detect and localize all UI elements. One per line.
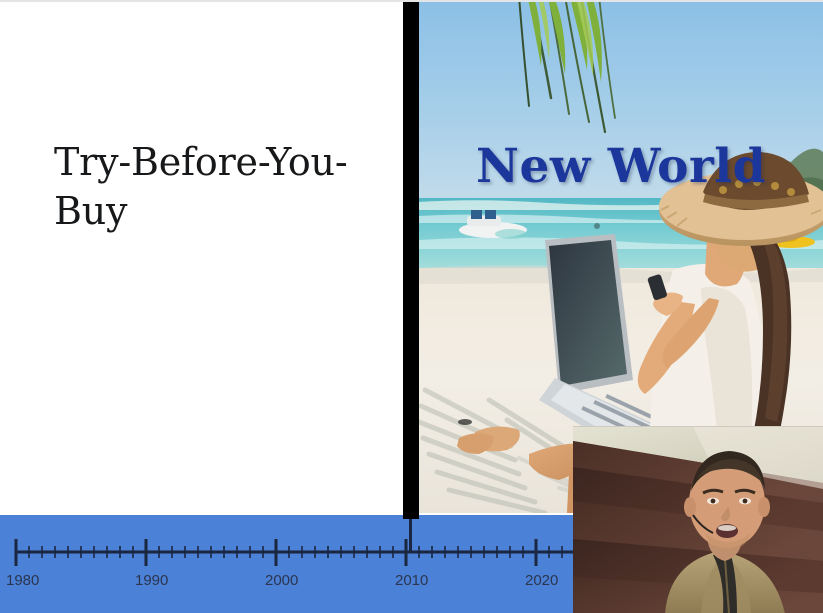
presentation-screen: Try-Before-You-Buy <box>0 0 823 613</box>
presenter-video-frame <box>573 427 823 613</box>
timeline-label-2000: 2000 <box>265 572 298 589</box>
timeline-playhead-bar[interactable] <box>403 0 419 519</box>
timeline-label-2020: 2020 <box>525 572 558 589</box>
slide-left-panel: Try-Before-You-Buy <box>0 2 403 515</box>
timeline-playhead-needle <box>409 519 412 551</box>
presenter-video[interactable] <box>573 426 823 613</box>
page-title: Try-Before-You-Buy <box>54 138 394 235</box>
window-top-border <box>0 0 823 2</box>
timeline-label-1990: 1990 <box>135 572 168 589</box>
timeline-label-2010: 2010 <box>395 572 428 589</box>
timeline-label-1980: 1980 <box>6 572 39 589</box>
